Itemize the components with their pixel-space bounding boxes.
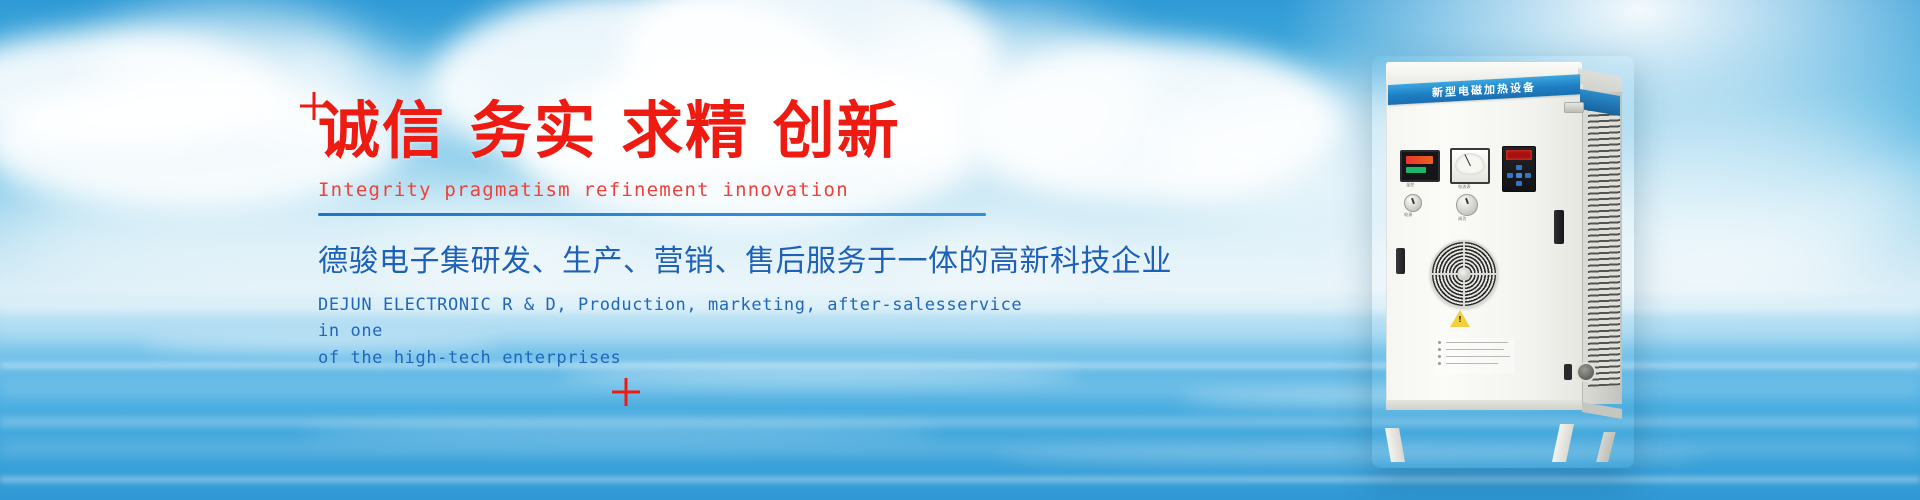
fan-hub [1458,268,1470,280]
plate-text-line [1446,363,1498,364]
machine-vent-grille [1588,107,1620,387]
machine-leg-right [1552,424,1574,462]
keypad-left-button[interactable] [1507,173,1513,178]
wave-line [0,382,1920,396]
digital-display [1400,150,1440,182]
subtitle-chinese: 德骏电子集研发、生产、营销、售后服务于一体的高新科技企业 [318,236,1038,280]
cable-port-round [1576,362,1596,382]
headline-english: Integrity pragmatism refinement innovati… [318,179,1038,201]
plate-text-line [1446,356,1510,357]
door-handle[interactable] [1554,210,1564,244]
analog-gauge [1450,148,1490,184]
machine-edge-seam [1582,92,1583,404]
power-knob[interactable] [1404,194,1422,212]
headline-chinese: 诚信 务实 求精 创新 [318,98,1038,165]
plate-text-line [1446,342,1508,343]
knob-caption-left: 电源 [1404,212,1413,218]
subtitle-english-line1: DEJUN ELECTRONIC R & D, Production, mark… [318,292,1038,345]
product-machine-image: 新型电磁加热设备 温控 电流表 电源 调功 [1378,62,1628,462]
wave-line [0,418,1920,426]
machine-leg-left [1385,428,1405,462]
promo-banner: 诚信 务实 求精 创新 Integrity pragmatism refinem… [0,0,1920,500]
display-caption-right: 电流表 [1458,184,1471,190]
plate-bullet [1438,362,1441,365]
keypad-buttons[interactable] [1507,165,1531,187]
subtitle-english-line2: of the high-tech enterprises [318,345,1038,371]
warning-triangle-icon [1450,310,1470,327]
keypad-enter-button[interactable] [1516,173,1522,178]
machine-base-side [1582,402,1622,419]
fan-grille-icon [1430,240,1498,308]
gauge-face [1455,153,1485,175]
door-latch[interactable] [1396,248,1405,274]
divider-rule [318,213,986,216]
display-segment-green [1406,167,1426,173]
banner-copy: 诚信 务实 求精 创新 Integrity pragmatism refinem… [318,98,1038,371]
plus-decor-icon [300,92,328,120]
water-glint [300,424,940,440]
machine-leg-back [1596,432,1615,462]
plate-bullet [1438,348,1441,351]
plate-bullet [1438,341,1441,344]
display-caption-left: 温控 [1406,182,1415,188]
wave-line [0,477,1920,482]
spec-label-plate [1436,338,1514,374]
display-segment-red [1406,156,1433,164]
cable-port-rect [1564,364,1572,380]
plus-decor-icon [612,378,640,406]
subtitle-english: DEJUN ELECTRONIC R & D, Production, mark… [318,292,1038,371]
keypad-right-button[interactable] [1525,173,1531,178]
plate-bullet [1438,355,1441,358]
machine-base-bezel [1386,400,1582,410]
control-keypad[interactable] [1502,146,1536,192]
keypad-down-button[interactable] [1516,181,1522,186]
plate-text-line [1446,349,1504,350]
machine-title-label: 新型电磁加热设备 [1432,79,1536,101]
knob-caption-right: 调功 [1458,216,1467,222]
power-adjust-knob[interactable] [1456,194,1478,216]
keypad-up-button[interactable] [1516,165,1522,170]
keypad-screen [1506,150,1532,160]
top-latch[interactable] [1564,102,1584,113]
gauge-needle [1464,154,1471,166]
